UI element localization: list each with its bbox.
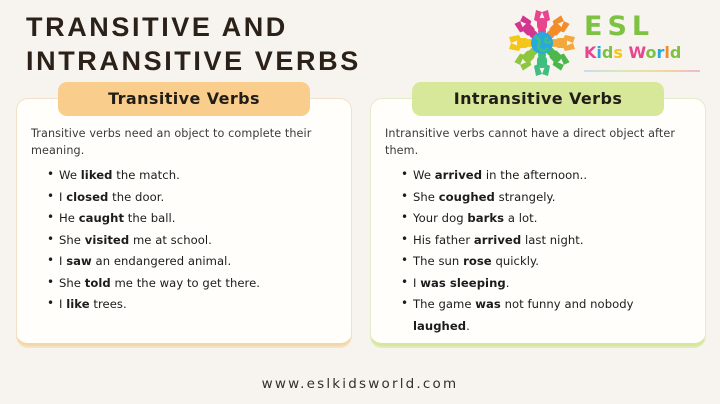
globe-people-icon [506, 8, 578, 78]
example-text: not funny and nobody [501, 297, 634, 311]
example-text: the match. [113, 168, 180, 182]
logo-wordmark: ESL Kids World [584, 12, 704, 74]
example-sentence-item: We arrived in the afternoon.. [401, 165, 691, 187]
example-verb: rose [463, 254, 492, 268]
example-sentence-item: I closed the door. [47, 187, 337, 209]
intransitive-examples-list: We arrived in the afternoon..She coughed… [385, 165, 691, 337]
example-sentence-item: I saw an endangered animal. [47, 251, 337, 273]
example-text: me the way to get there. [111, 276, 260, 290]
header: TRANSITIVE AND INTRANSITIVE VERBS [0, 0, 720, 88]
example-verb: arrived [474, 233, 521, 247]
example-verb: closed [66, 190, 108, 204]
transitive-card-heading: Transitive Verbs [58, 82, 310, 116]
infographic-page: TRANSITIVE AND INTRANSITIVE VERBS [0, 0, 720, 404]
example-verb: barks [467, 211, 504, 225]
logo-kids-world-text: Kids World [584, 43, 704, 62]
example-text: the door. [108, 190, 164, 204]
example-sentence-item: Your dog barks a lot. [401, 208, 691, 230]
example-verb: caught [79, 211, 124, 225]
example-sentence-item: She told me the way to get there. [47, 273, 337, 295]
transitive-card-body: Transitive verbs need an object to compl… [17, 125, 351, 316]
example-text: His father [413, 233, 474, 247]
example-verb: laughed [413, 319, 466, 333]
example-text: The sun [413, 254, 463, 268]
example-text: He [59, 211, 79, 225]
example-sentence-item: His father arrived last night. [401, 230, 691, 252]
intransitive-card-heading: Intransitive Verbs [412, 82, 664, 116]
example-verb: saw [66, 254, 92, 268]
transitive-verbs-card: Transitive Verbs Transitive verbs need a… [16, 98, 352, 346]
example-text: an endangered animal. [92, 254, 231, 268]
example-text: quickly. [492, 254, 539, 268]
example-text: We [59, 168, 81, 182]
example-text: She [413, 190, 439, 204]
example-text: . [466, 319, 470, 333]
transitive-examples-list: We liked the match.I closed the door.He … [31, 165, 337, 316]
intransitive-verbs-card: Intransitive Verbs Intransitive verbs ca… [370, 98, 706, 346]
transitive-intro-text: Transitive verbs need an object to compl… [31, 125, 337, 159]
example-text: trees. [90, 297, 127, 311]
example-verb: was [475, 297, 501, 311]
intransitive-intro-text: Intransitive verbs cannot have a direct … [385, 125, 691, 159]
example-text: We [413, 168, 435, 182]
example-text: She [59, 233, 85, 247]
example-sentence-item: The game was not funny and nobody laughe… [401, 294, 691, 337]
example-sentence-item: He caught the ball. [47, 208, 337, 230]
footer-website-url[interactable]: www.eslkidsworld.com [0, 376, 720, 392]
brand-logo[interactable]: ESL Kids World [500, 6, 706, 80]
example-text: . [506, 276, 510, 290]
example-text: the ball. [124, 211, 176, 225]
example-sentence-item: We liked the match. [47, 165, 337, 187]
logo-underline-rule [584, 70, 700, 72]
example-verb: arrived [435, 168, 482, 182]
example-sentence-item: I was sleeping. [401, 273, 691, 295]
example-verb: liked [81, 168, 113, 182]
example-text: She [59, 276, 85, 290]
example-verb: visited [85, 233, 129, 247]
example-verb: coughed [439, 190, 495, 204]
example-text: a lot. [504, 211, 537, 225]
logo-esl-text: ESL [584, 12, 704, 42]
example-sentence-item: The sun rose quickly. [401, 251, 691, 273]
example-text: in the afternoon.. [482, 168, 587, 182]
example-verb: told [85, 276, 111, 290]
example-sentence-item: She coughed strangely. [401, 187, 691, 209]
example-sentence-item: She visited me at school. [47, 230, 337, 252]
example-text: last night. [521, 233, 583, 247]
comparison-cards: Transitive Verbs Transitive verbs need a… [0, 86, 720, 358]
example-text: strangely. [495, 190, 556, 204]
example-text: me at school. [129, 233, 212, 247]
example-sentence-item: I like trees. [47, 294, 337, 316]
example-text: The game [413, 297, 475, 311]
intransitive-card-body: Intransitive verbs cannot have a direct … [371, 125, 705, 337]
example-text: Your dog [413, 211, 467, 225]
page-title: TRANSITIVE AND INTRANSITIVE VERBS [26, 10, 496, 78]
example-verb: like [66, 297, 89, 311]
example-verb: was sleeping [420, 276, 506, 290]
